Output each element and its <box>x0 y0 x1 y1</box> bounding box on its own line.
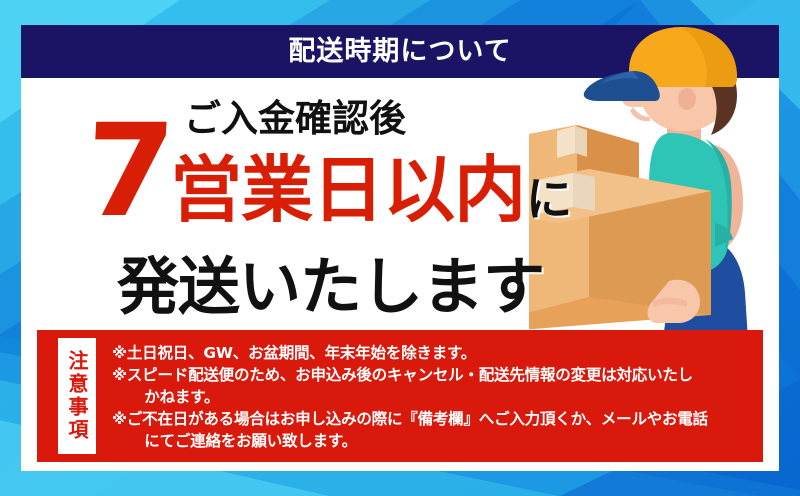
headline-number: 7 <box>82 120 171 225</box>
headline-main-line: 7 営業日以内 に <box>85 120 572 226</box>
headline-line3: 発送いたします <box>117 256 544 318</box>
notice-label-box: 注意事項 <box>58 338 96 454</box>
notice-label-text: 注意事項 <box>67 350 87 442</box>
info-card: 配送時期について <box>21 25 779 471</box>
notice-items-list: ※土日祝日、GW、お盆期間、年末年始を除きます。 ※スピード配送便のため、お申込… <box>96 330 763 462</box>
headline-block: ご入金確認後 7 営業日以内 に 発送いたします <box>21 78 551 330</box>
headline-suffix: に <box>526 176 572 222</box>
notice-item: ※ご不在日がある場合はお申し込みの際に『備考欄』へご入力頂くか、メールやお電話 … <box>112 408 753 452</box>
notice-box: 注意事項 ※土日祝日、GW、お盆期間、年末年始を除きます。 ※スピード配送便のた… <box>37 330 763 462</box>
notice-item: ※土日祝日、GW、お盆期間、年末年始を除きます。 <box>112 342 753 364</box>
headline-red-text: 営業日以内 <box>170 154 525 226</box>
notice-item: ※スピード配送便のため、お申込み後のキャンセル・配送先情報の変更は対応いたし か… <box>112 364 753 408</box>
